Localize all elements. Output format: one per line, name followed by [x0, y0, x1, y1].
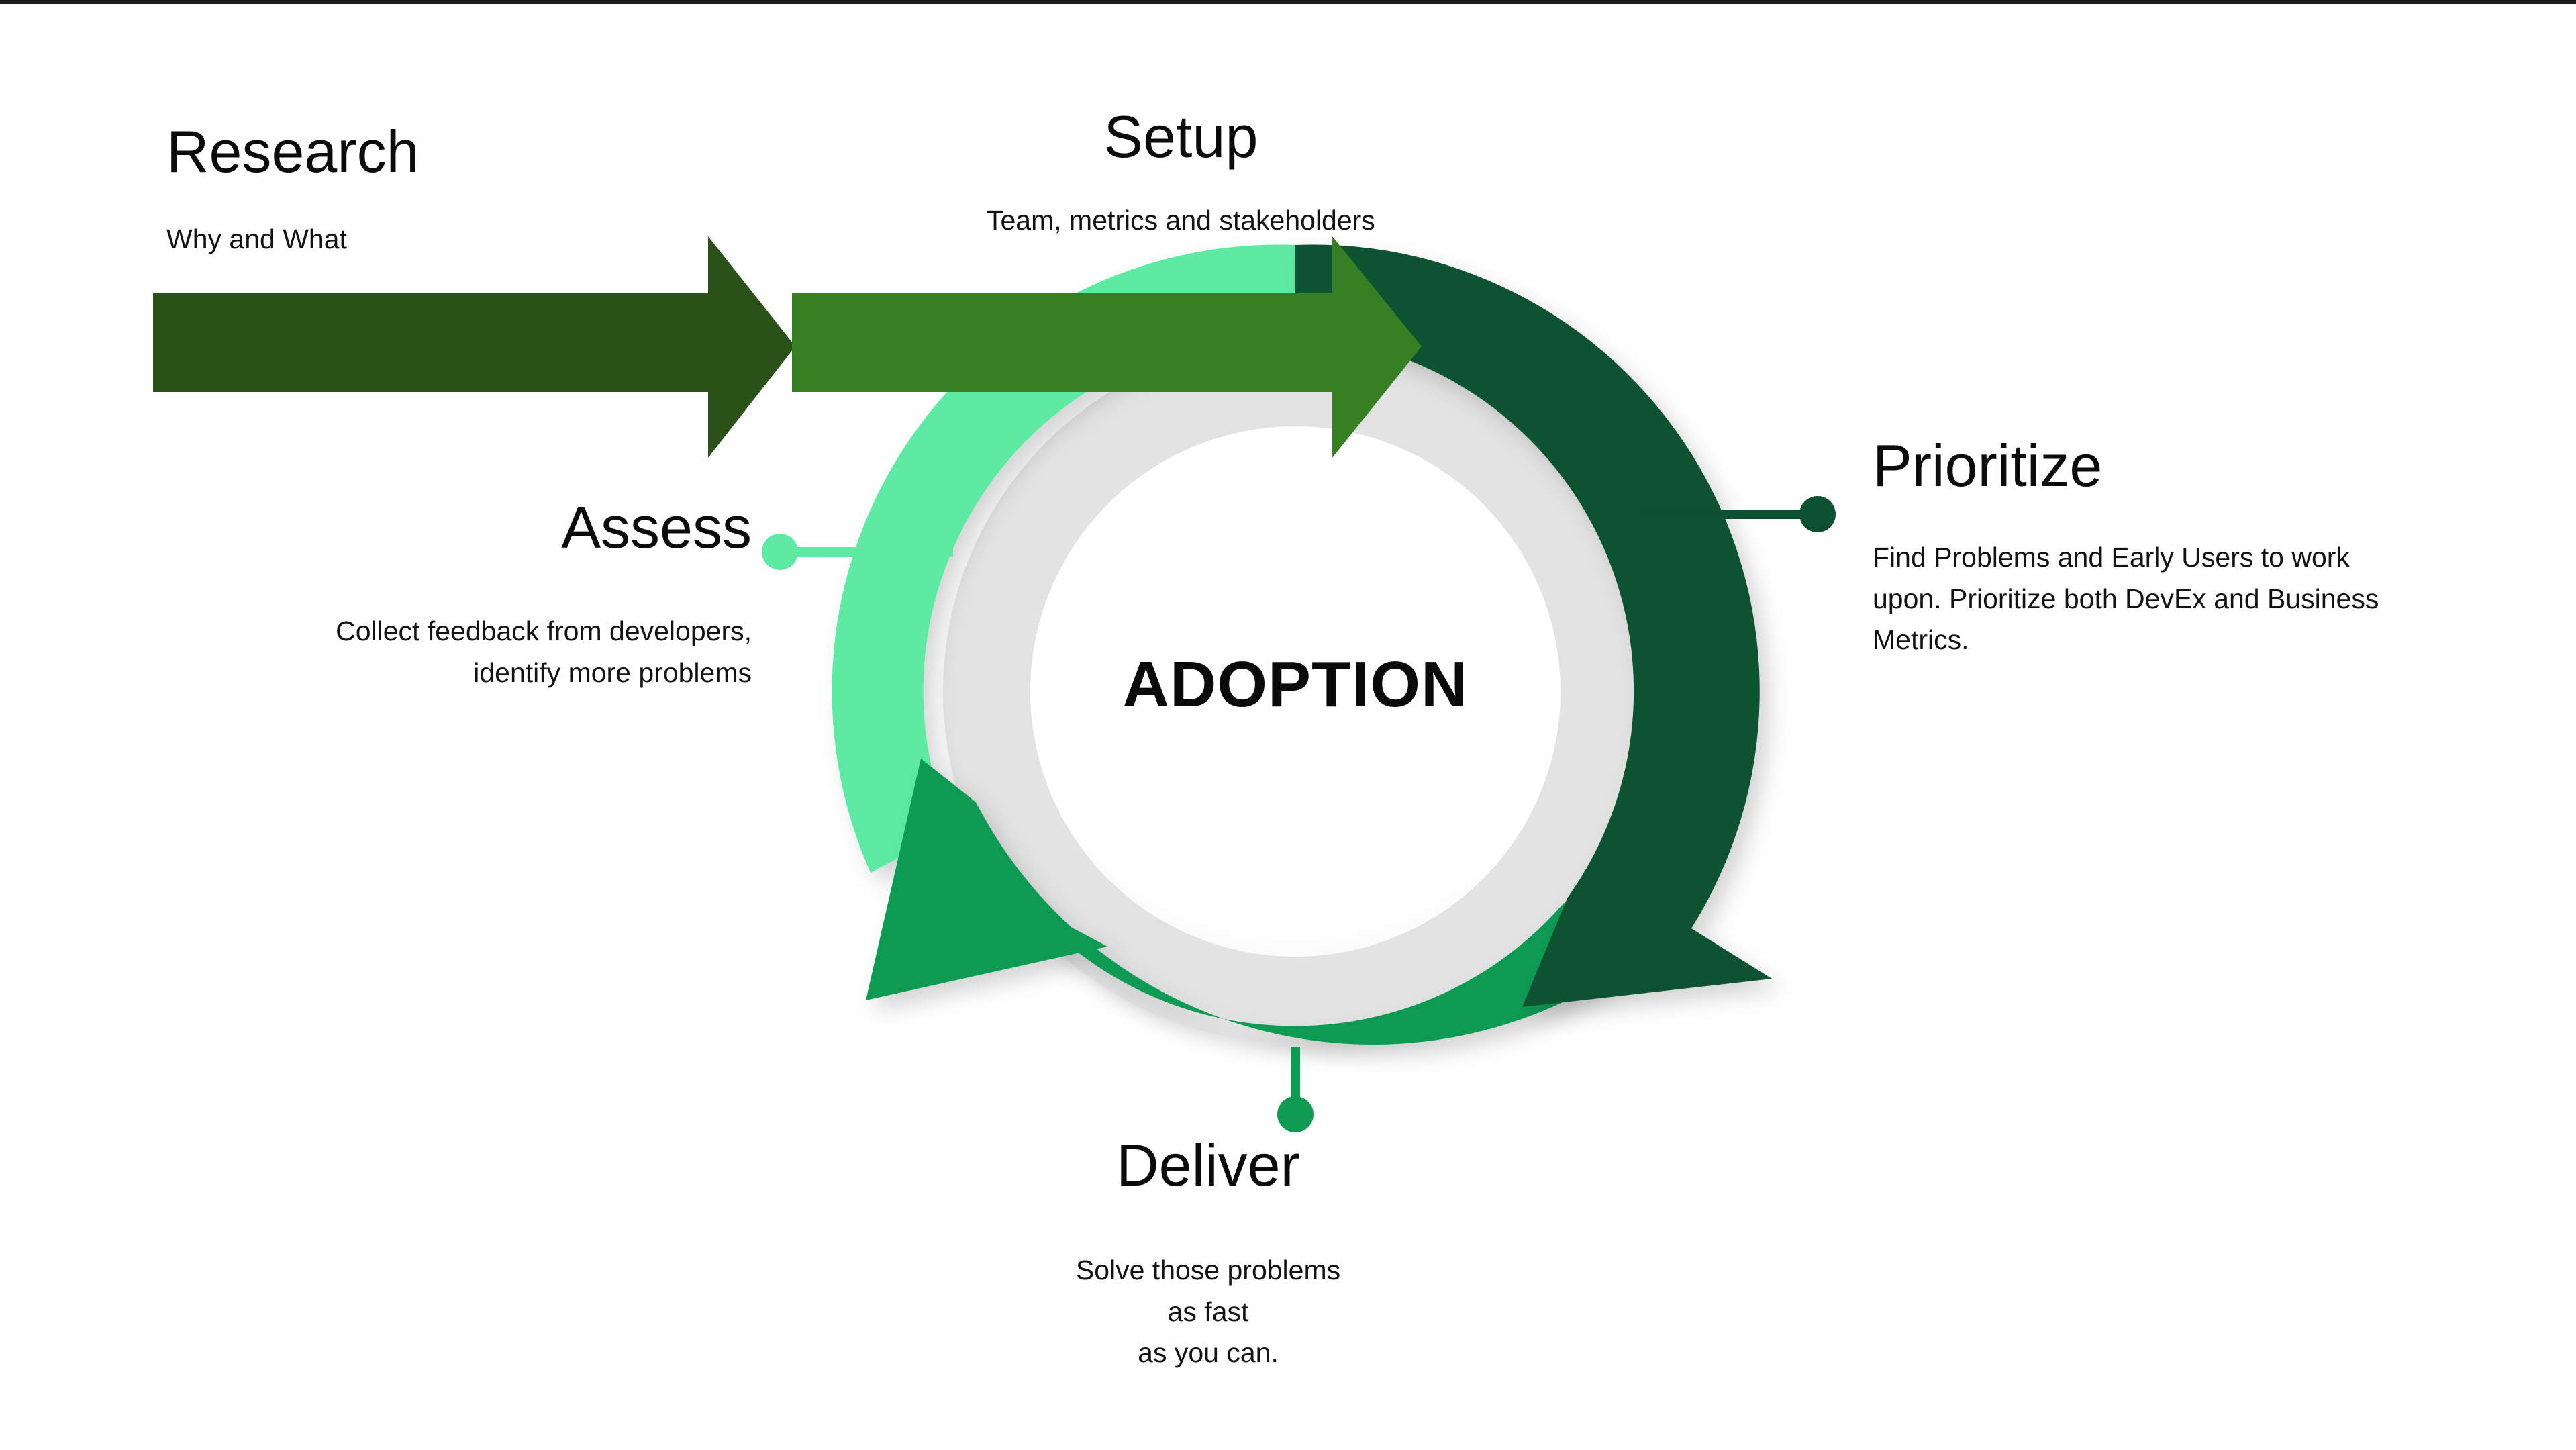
deliver-description: Solve those problems as fast as you can. [1067, 1250, 1349, 1374]
research-title: Research [166, 121, 419, 183]
stage-label-deliver[interactable]: Deliver Solve those problems as fast as … [1067, 1134, 1349, 1374]
stage-label-prioritize[interactable]: Prioritize Find Problems and Early Users… [1873, 435, 2423, 661]
deliver-description-line-2: as you can. [1067, 1333, 1349, 1374]
prioritize-description: Find Problems and Early Users to work up… [1873, 537, 2423, 661]
stage-label-assess[interactable]: Assess Collect feedback from developers,… [282, 497, 752, 693]
arrow-research [153, 236, 795, 458]
deliver-title: Deliver [1067, 1134, 1349, 1196]
connector-deliver [1277, 1047, 1314, 1132]
setup-description: Team, metrics and stakeholders [987, 200, 1375, 242]
stage-label-setup[interactable]: Setup Team, metrics and stakeholders [987, 106, 1375, 242]
deliver-description-line-1: Solve those problems as fast [1067, 1250, 1349, 1333]
stage-label-research[interactable]: Research Why and What [166, 121, 419, 260]
research-description: Why and What [166, 219, 419, 260]
assess-description-line-2: identify more problems [282, 652, 752, 694]
assess-title: Assess [282, 497, 752, 559]
assess-description: Collect feedback from developers, identi… [282, 611, 752, 693]
prioritize-title: Prioritize [1873, 435, 2423, 497]
setup-title: Setup [987, 106, 1375, 168]
assess-description-line-1: Collect feedback from developers, [282, 611, 752, 652]
center-label-adoption: ADOPTION [1034, 648, 1557, 722]
diagram-canvas: ADOPTION Research Why and What Setup Tea… [0, 0, 2576, 1450]
